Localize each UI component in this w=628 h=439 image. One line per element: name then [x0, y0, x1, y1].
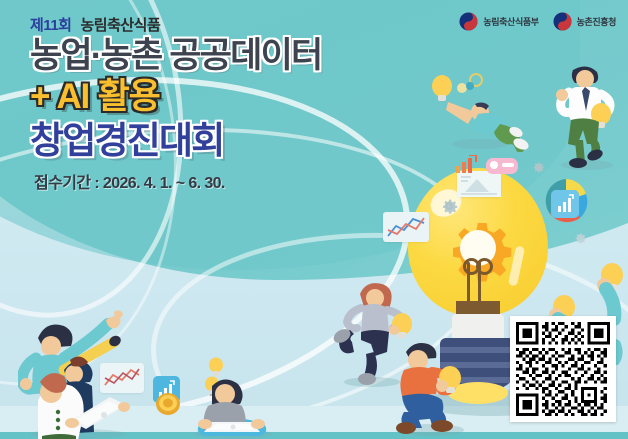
qr-code[interactable]: [510, 316, 616, 422]
logo-rda: 농촌진흥청: [553, 12, 616, 31]
taegeuk-icon: [459, 12, 478, 31]
bar-chart-card-icon: [551, 190, 579, 218]
bar-chart-icon: [456, 155, 478, 178]
person-sitting-with-laptop: [178, 366, 288, 439]
poster-canvas: 농림축산식품부 농촌진흥청 제11회농림축산식품 농업·농촌 공공데이터 + A…: [0, 0, 628, 439]
headline-block: 제11회농림축산식품 농업·농촌 공공데이터 + AI 활용 창업경진대회 접수…: [30, 14, 430, 193]
application-period: 접수기간 : 2026. 4. 1. ~ 6. 30.: [34, 169, 430, 193]
flying-person-with-bulb: [420, 72, 530, 157]
filament-wire-right: [478, 262, 481, 306]
edition-number: 제11회: [30, 17, 71, 34]
man-kneeling-with-bulb: [378, 330, 488, 439]
filament-wire-left: [467, 262, 470, 306]
title-line-2: + AI 활용: [30, 79, 430, 116]
toggle-pill-icon: [486, 158, 518, 174]
logo-maf-label: 농림축산식품부: [483, 15, 538, 28]
taegeuk-icon: [553, 12, 572, 31]
gear-icon: [572, 230, 588, 251]
title-line-3: 창업경진대회: [30, 122, 430, 161]
line-graph-card-icon: [383, 212, 429, 242]
gear-icon: [438, 195, 460, 222]
government-logos: 농림축산식품부 농촌진흥청: [459, 12, 616, 31]
logo-rda-label: 농촌진흥청: [577, 15, 616, 28]
edition-line: 제11회농림축산식품: [30, 14, 430, 35]
title-line-1: 농업·농촌 공공데이터: [30, 38, 430, 75]
woman-holding-tablet: [64, 387, 134, 438]
qr-code-image: [516, 322, 610, 416]
ministry-name: 농림축산식품: [80, 17, 160, 34]
logo-maf: 농림축산식품부: [459, 12, 538, 31]
businessman-running-with-bulb: [545, 62, 625, 177]
